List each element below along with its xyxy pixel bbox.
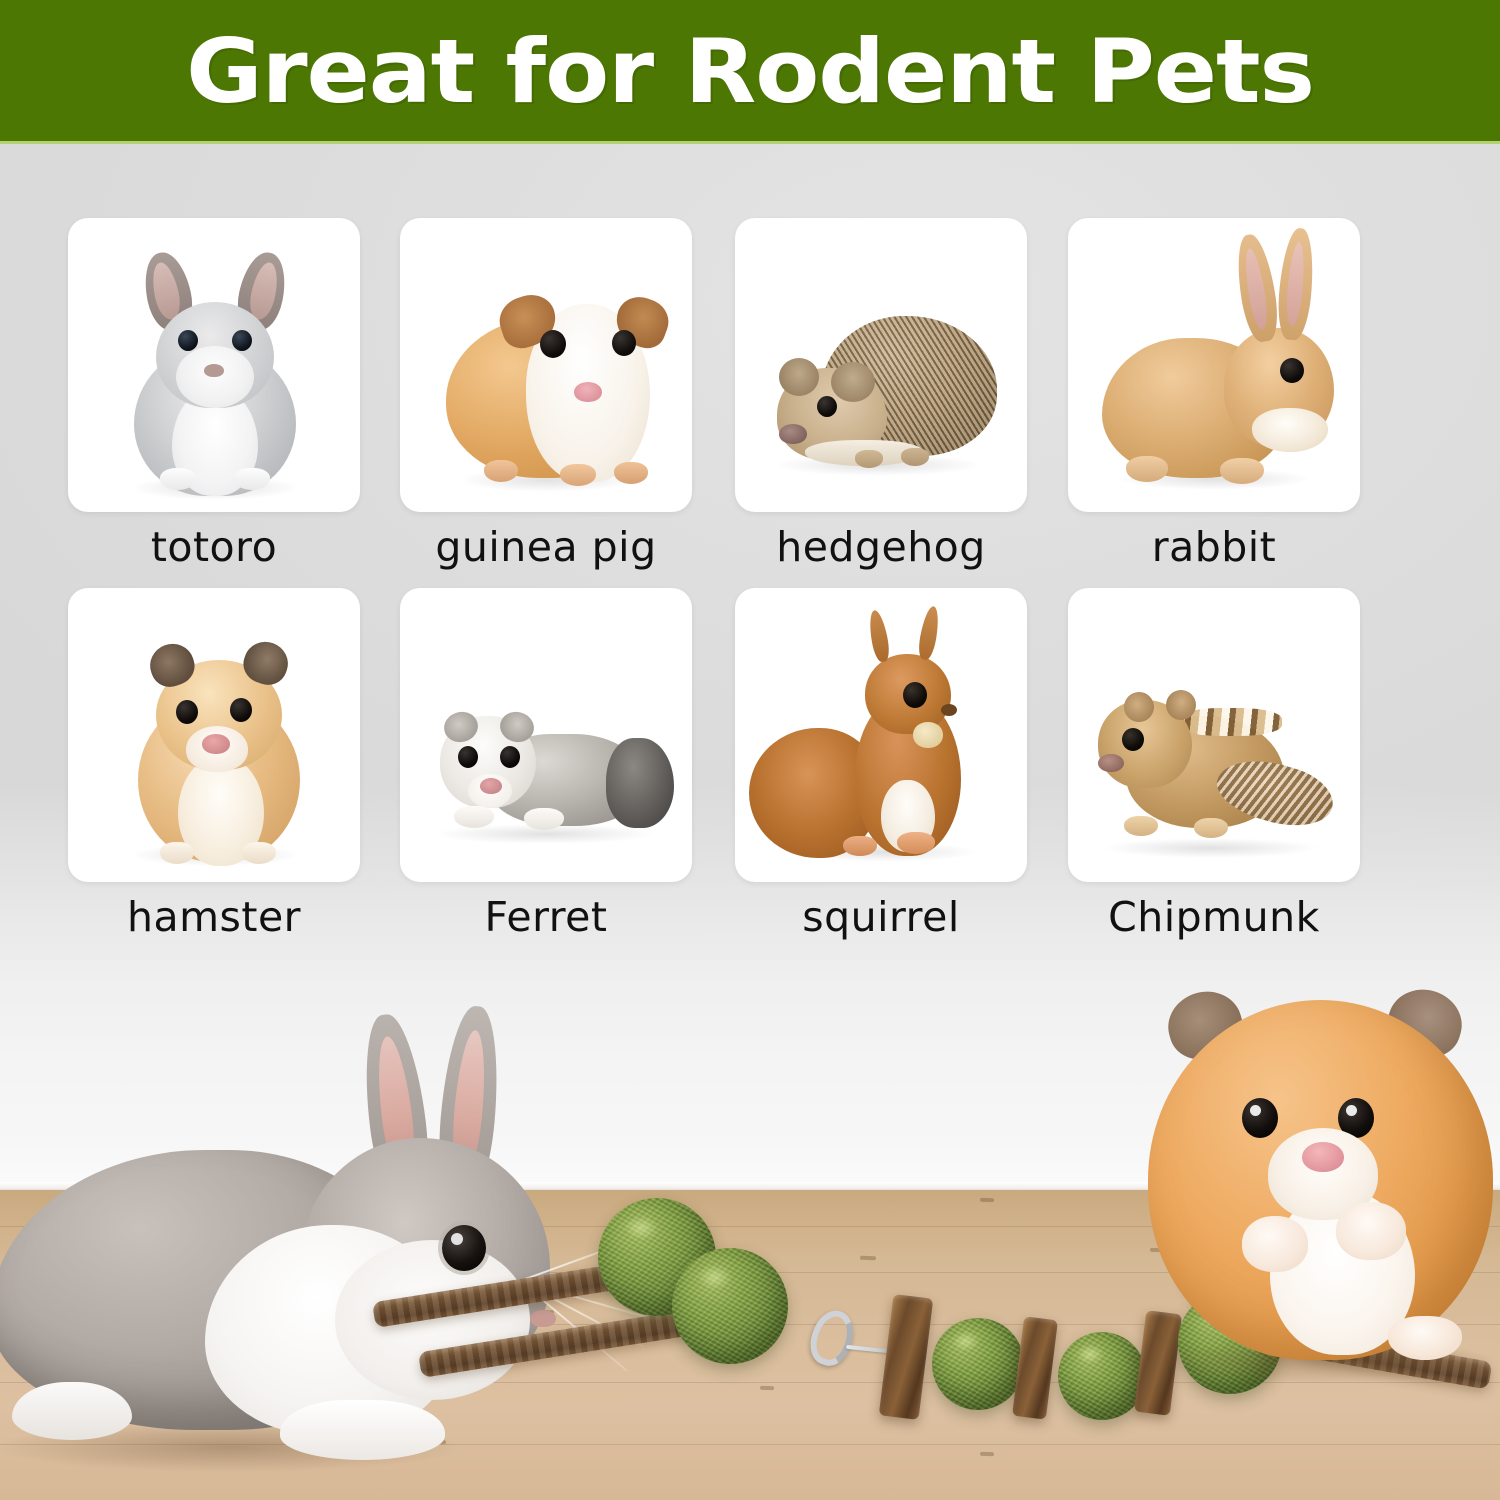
grid-item-label: squirrel [735, 896, 1027, 939]
animal-card [1068, 588, 1360, 882]
animal-card [68, 588, 360, 882]
hedgehog-photo [735, 218, 1027, 512]
animal-card [68, 218, 360, 512]
hamster-photo [68, 588, 360, 882]
chinchilla-photo [68, 218, 360, 512]
grid-item-label: guinea pig [400, 526, 692, 569]
grid-cell-guinea-pig[interactable]: guinea pig [400, 218, 692, 569]
grid-cell-hamster[interactable]: hamster [68, 588, 360, 939]
product-photo-scene [0, 960, 1500, 1500]
animal-card [1068, 218, 1360, 512]
grid-cell-chipmunk[interactable]: Chipmunk [1068, 588, 1360, 939]
infographic-page: Great for Rodent Pets [0, 0, 1500, 1500]
grid-item-label: hedgehog [735, 526, 1027, 569]
grid-cell-totoro[interactable]: totoro [68, 218, 360, 569]
guinea-pig-photo [400, 218, 692, 512]
grid-cell-rabbit[interactable]: rabbit [1068, 218, 1360, 569]
grid-cell-squirrel[interactable]: squirrel [735, 588, 1027, 939]
grass-chew-ball [932, 1318, 1024, 1410]
animal-card [735, 218, 1027, 512]
grid-item-label: Ferret [400, 896, 692, 939]
squirrel-photo [735, 588, 1027, 882]
grid-cell-ferret[interactable]: Ferret [400, 588, 692, 939]
page-title: Great for Rodent Pets [186, 28, 1314, 116]
animal-card [735, 588, 1027, 882]
rabbit-photo-left [0, 1020, 630, 1460]
animal-card [400, 588, 692, 882]
ferret-photo [400, 588, 692, 882]
header-banner: Great for Rodent Pets [0, 0, 1500, 144]
grid-item-label: totoro [68, 526, 360, 569]
grass-chew-ball [672, 1248, 788, 1364]
grid-item-label: rabbit [1068, 526, 1360, 569]
grid-cell-hedgehog[interactable]: hedgehog [735, 218, 1027, 569]
animal-grid: totoro guinea pig [0, 144, 1500, 1004]
grid-item-label: Chipmunk [1068, 896, 1360, 939]
grid-item-label: hamster [68, 896, 360, 939]
chipmunk-photo [1068, 588, 1360, 882]
animal-card [400, 218, 692, 512]
rabbit-photo [1068, 218, 1360, 512]
hamster-photo-right [1120, 970, 1500, 1440]
